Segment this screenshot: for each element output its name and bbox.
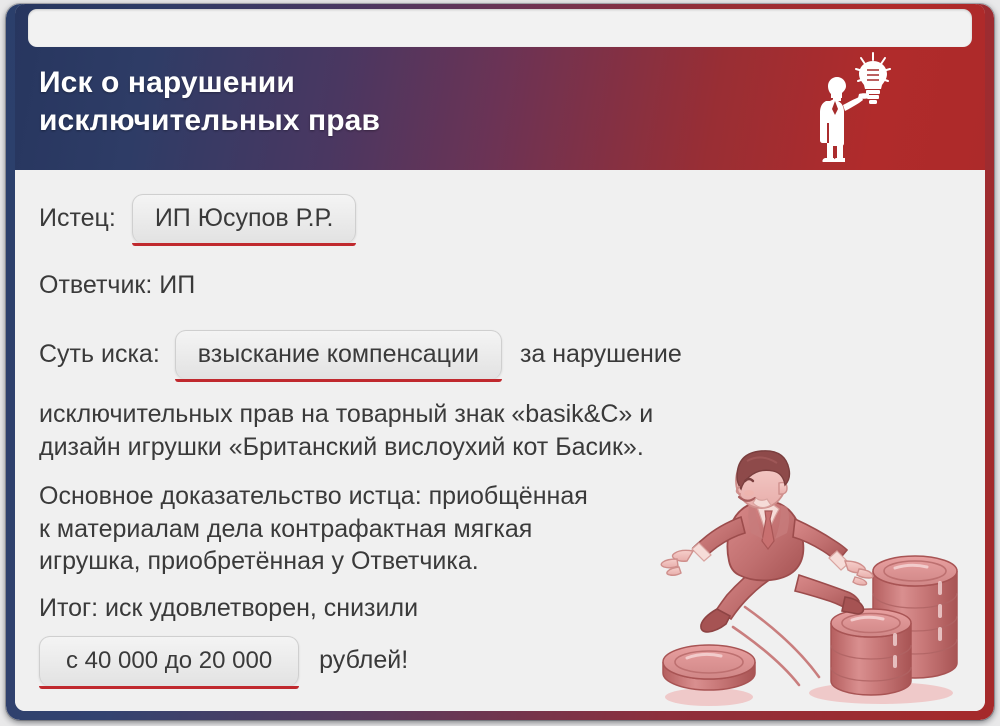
plaintiff-label: Истец:: [39, 203, 116, 234]
evidence-text: Основное доказательство истца: приобщённ…: [39, 480, 699, 578]
amount-pill: с 40 000 до 20 000: [39, 636, 299, 686]
card-inner: Иск о нарушении исключительных прав: [15, 4, 985, 711]
claim-subject-row: Суть иска: взыскание компенсации за нару…: [39, 330, 682, 379]
infographic-card: Иск о нарушении исключительных прав: [6, 4, 994, 720]
defendant-row: Ответчик: ИП: [39, 270, 195, 301]
claim-highlight-pill: взыскание компенсации: [175, 330, 502, 379]
businessman-with-lightbulb-icon: [811, 50, 897, 162]
outcome-text: Итог: иск удовлетворен, снизили: [39, 592, 418, 625]
defendant-text: Ответчик: ИП: [39, 270, 195, 301]
claim-body-text: исключительных прав на товарный знак «ba…: [39, 398, 739, 463]
currency-text: рублей!: [319, 646, 408, 675]
header-top-strip: [28, 9, 972, 47]
plaintiff-value-pill: ИП Юсупов Р.Р.: [132, 194, 357, 243]
card-header: Иск о нарушении исключительных прав: [15, 4, 985, 170]
plaintiff-row: Истец: ИП Юсупов Р.Р.: [39, 194, 356, 243]
page-title: Иск о нарушении исключительных прав: [39, 64, 659, 141]
amount-row: с 40 000 до 20 000 рублей!: [39, 636, 408, 686]
claim-after-text: за нарушение: [520, 340, 682, 369]
card-content: Истец: ИП Юсупов Р.Р. Ответчик: ИП Суть …: [15, 170, 985, 711]
claim-label: Суть иска:: [39, 339, 160, 370]
